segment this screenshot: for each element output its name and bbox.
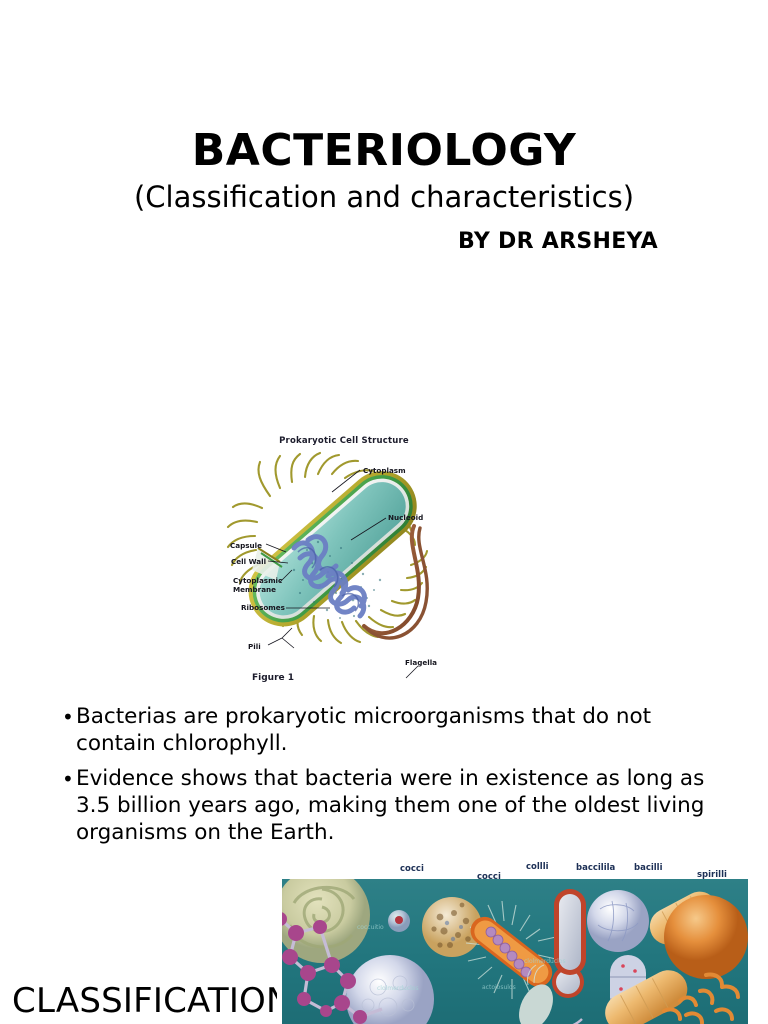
single-coccus-small (388, 910, 410, 932)
bacteria-types-image: cocci cocci collli baccilila bacilli spi… (277, 862, 753, 1024)
list-item: • Evidence shows that bacteria were in e… (62, 765, 710, 846)
bacteria-sub-caption: coccuitio (357, 924, 384, 931)
bacteria-caption: cocci (477, 872, 501, 882)
bacteria-sub-caption: clolmerduclos (377, 985, 419, 992)
label-pili: Pili (248, 642, 261, 651)
bacteria-caption: baccilila (576, 863, 615, 873)
label-ribosomes: Ribosomes (241, 603, 285, 612)
bullet-text: Bacterias are prokaryotic microorganisms… (76, 703, 710, 757)
bullet-list: • Bacterias are prokaryotic microorganis… (62, 703, 710, 854)
label-cytoplasmic-membrane-line1: Cytoplasmic (233, 576, 282, 585)
prokaryotic-cell-figure: Prokaryotic Cell Structure (208, 430, 480, 696)
list-item: • Bacterias are prokaryotic microorganis… (62, 703, 710, 757)
bullet-text: Evidence shows that bacteria were in exi… (76, 765, 710, 846)
page-title: BACTERIOLOGY (0, 128, 768, 174)
section-heading-classification: CLASSIFICATION (12, 981, 292, 1021)
author-byline: BY DR ARSHEYA (0, 229, 658, 254)
blue-speckled-sphere (587, 890, 649, 952)
figure-caption: Figure 1 (252, 673, 294, 683)
bacteria-caption: spirilli (697, 870, 727, 880)
label-cytoplasmic-membrane-line2: Membrane (233, 585, 276, 594)
page-subtitle: (Classification and characteristics) (0, 182, 768, 214)
bacteria-sub-caption: actoiosulos (482, 984, 516, 991)
label-cell-wall: Cell Wall (231, 557, 266, 566)
bacteria-caption: cocci (400, 864, 424, 874)
bacteria-sub-caption: clolmerduclos (524, 958, 566, 965)
bacteria-caption: bacilli (634, 863, 663, 873)
slide-page: { "slide": { "title": "BACTERIOLOGY", "s… (0, 0, 768, 1024)
label-flagella: Flagella (405, 658, 437, 667)
bacteria-shapes-illustration (282, 879, 748, 1024)
bullet-marker-icon: • (62, 765, 76, 793)
label-cytoplasmic-membrane: Cytoplasmic Membrane (233, 576, 282, 594)
bullet-marker-icon: • (62, 703, 76, 731)
label-nucleoid: Nucleoid (388, 513, 423, 522)
label-cytoplasm: Cytoplasm (363, 466, 406, 475)
bacteria-image-canvas (282, 879, 748, 1024)
orange-sphere-large (664, 895, 748, 979)
bacteria-caption: collli (526, 862, 549, 872)
label-capsule: Capsule (230, 541, 262, 550)
